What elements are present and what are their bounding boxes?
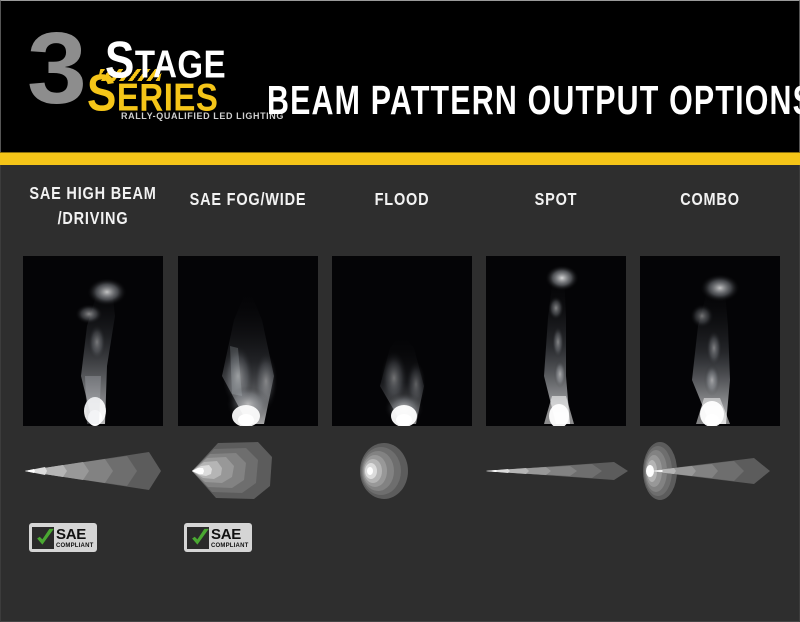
green-check-icon (34, 528, 56, 549)
column-label-line1: SAE FOG/WIDE (164, 188, 332, 213)
beam-photo (486, 256, 626, 426)
column-label-line1: COMBO (626, 188, 794, 213)
sae-badge-main: SAE (56, 527, 93, 542)
column-label: SAE FOG/WIDE (164, 188, 332, 213)
column-label: SPOT (472, 188, 640, 213)
header-bar: 3 STAGE SERIES RALLY-QUALIFIED LED LIGHT… (0, 0, 800, 152)
column-label: FLOOD (318, 188, 486, 213)
column-label: COMBO (626, 188, 794, 213)
beam-diagram-very-long-thin (482, 440, 632, 502)
beam-diagram-long-narrow-taper (19, 440, 169, 502)
beam-column-spot: SPOT (486, 165, 626, 622)
beam-pattern-diagram (636, 440, 786, 502)
logo-numeral-3: 3 (27, 19, 82, 120)
column-label-line2: /DRIVING (9, 207, 177, 232)
green-check-icon (189, 528, 211, 549)
column-label: SAE HIGH BEAM /DRIVING (9, 182, 177, 232)
logo-series-cap: S (87, 65, 117, 123)
beam-pattern-grid: SAE HIGH BEAM /DRIVING (0, 165, 800, 622)
beam-photo (178, 256, 318, 426)
sae-check-box (32, 527, 54, 549)
beam-photo-graphic (178, 256, 318, 426)
beam-photo-graphic (23, 256, 163, 426)
beam-photo (23, 256, 163, 426)
sae-badge-main: SAE (211, 527, 248, 542)
column-label-line1: FLOOD (318, 188, 486, 213)
beam-photo-graphic (640, 256, 780, 426)
beam-pattern-diagram (174, 440, 324, 502)
beam-photo (640, 256, 780, 426)
beam-pattern-diagram (482, 440, 632, 502)
beam-pattern-infographic: 3 STAGE SERIES RALLY-QUALIFIED LED LIGHT… (0, 0, 800, 622)
sae-compliant-badge: SAE COMPLIANT (29, 523, 97, 552)
beam-photo-graphic (332, 256, 472, 426)
beam-column-combo: COMBO (640, 165, 780, 622)
beam-column-flood: FLOOD (332, 165, 472, 622)
beam-column-sae-high-beam-driving: SAE HIGH BEAM /DRIVING (23, 165, 163, 622)
sae-badge-sub: COMPLIANT (211, 543, 248, 549)
sae-badge-sub: COMPLIANT (56, 543, 93, 549)
sae-badge-text: SAE COMPLIANT (56, 527, 93, 549)
beam-pattern-diagram (328, 440, 478, 502)
beam-column-sae-fog-wide: SAE FOG/WIDE (178, 165, 318, 622)
logo-tagline: RALLY-QUALIFIED LED LIGHTING (121, 111, 284, 121)
beam-pattern-diagram (19, 440, 169, 502)
sae-check-box (187, 527, 209, 549)
beam-photo-graphic (486, 256, 626, 426)
beam-photo (332, 256, 472, 426)
column-label-line1: SAE HIGH BEAM (9, 182, 177, 207)
column-label-line1: SPOT (472, 188, 640, 213)
beam-diagram-wide-short-fan (174, 440, 324, 502)
page-title: BEAM PATTERN OUTPUT OPTIONS (267, 77, 800, 125)
yellow-accent-divider (0, 152, 800, 166)
beam-diagram-spot-plus-flood (636, 440, 786, 502)
sae-compliant-badge: SAE COMPLIANT (184, 523, 252, 552)
beam-diagram-round-short (328, 440, 478, 502)
stage-series-logo: 3 STAGE SERIES RALLY-QUALIFIED LED LIGHT… (27, 25, 242, 125)
sae-badge-text: SAE COMPLIANT (211, 527, 248, 549)
